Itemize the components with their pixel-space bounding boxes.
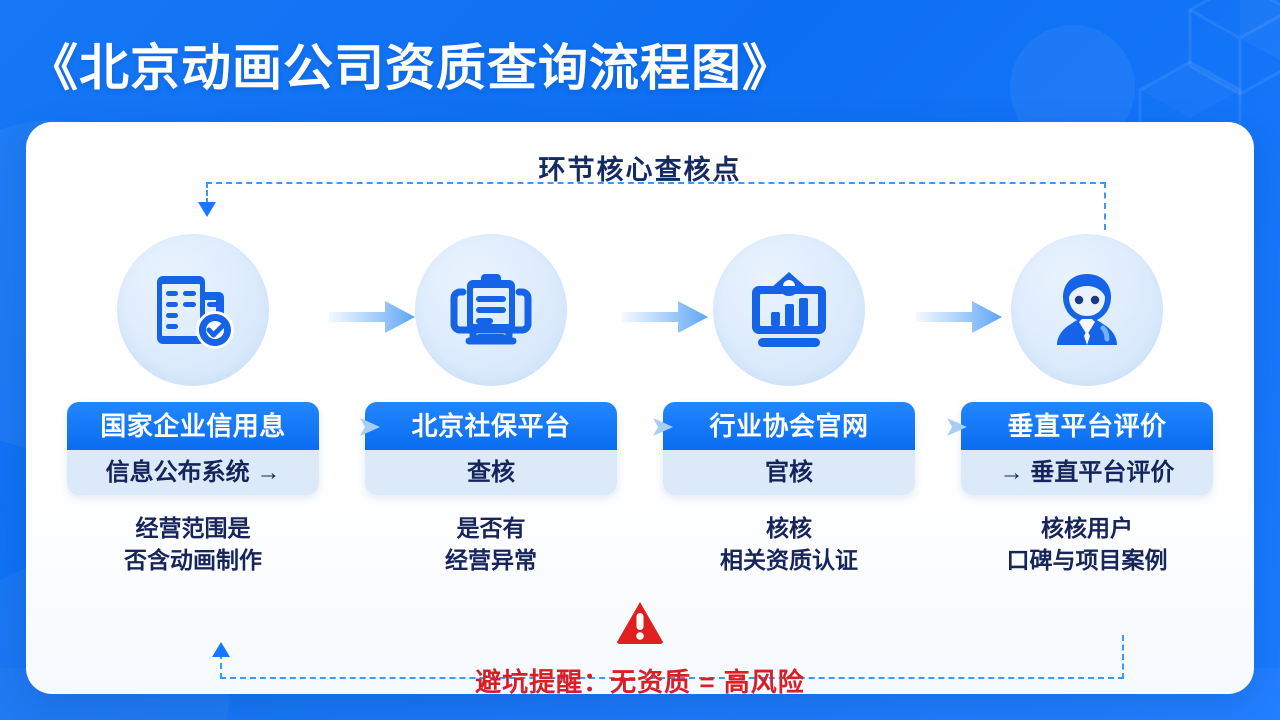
step-pill-main: 北京社保平台 — [365, 402, 617, 450]
infographic-canvas: 《北京动画公司资质查询流程图》 环节核心查核点 — [0, 0, 1280, 720]
step-icon-bubble — [415, 234, 567, 386]
step-item[interactable]: 北京社保平台 查核 是否有 经营异常 — [360, 234, 622, 576]
page-title: 《北京动画公司资质查询流程图》 — [28, 28, 793, 100]
step-description: 核核 相关资质认证 — [720, 512, 858, 576]
bar-chart-board-icon — [743, 264, 835, 356]
step-icon-bubble — [117, 234, 269, 386]
user-avatar-icon — [1041, 264, 1133, 356]
step-pill-main: 垂直平台评价 — [961, 402, 1213, 450]
dashed-feedback-loop-top — [176, 182, 1106, 232]
step-description: 经营范围是 否含动画制作 — [124, 512, 262, 576]
step-pill-sub: 信息公布系统 → — [67, 450, 319, 495]
step-pill-stack: 垂直平台评价 → 垂直平台评价 — [961, 402, 1213, 495]
step-pill-main: 行业协会官网 — [663, 402, 915, 450]
step-list: 国家企业信用息 信息公布系统 → 经营范围是 否含动画制作 — [62, 234, 1218, 576]
warning-triangle-icon — [616, 600, 664, 644]
step-icon-bubble — [713, 234, 865, 386]
warning-text: 避坑提醒：无资质 = 高风险 — [26, 662, 1254, 694]
flow-card: 环节核心查核点 — [26, 122, 1254, 694]
step-icon-bubble — [1011, 234, 1163, 386]
chevron-right-icon — [943, 414, 973, 440]
step-pill-stack: 北京社保平台 查核 — [365, 402, 617, 495]
card-heading: 环节核心查核点 — [26, 148, 1254, 187]
step-item[interactable]: 行业协会官网 官核 核核 相关资质认证 — [658, 234, 920, 576]
step-pill-main: 国家企业信用息 — [67, 402, 319, 450]
loop-bottom-arrowhead-icon — [212, 642, 230, 657]
step-pill-sub: 查核 — [365, 450, 617, 495]
clipboard-monitor-icon — [445, 264, 537, 356]
step-pill-stack: 国家企业信用息 信息公布系统 → — [67, 402, 319, 495]
chevron-right-icon — [649, 414, 679, 440]
arrow-right-icon — [622, 300, 708, 334]
step-item[interactable]: 垂直平台评价 → 垂直平台评价 核核用户 口碑与项目案例 — [956, 234, 1218, 576]
chevron-right-icon — [356, 414, 386, 440]
step-pill-sub: 官核 — [663, 450, 915, 495]
step-pill-sub: → 垂直平台评价 — [961, 450, 1213, 495]
document-check-icon — [147, 264, 239, 356]
step-description: 核核用户 口碑与项目案例 — [1007, 512, 1168, 576]
arrow-right-icon — [329, 300, 415, 334]
step-description: 是否有 经营异常 — [445, 512, 537, 576]
step-item[interactable]: 国家企业信用息 信息公布系统 → 经营范围是 否含动画制作 — [62, 234, 324, 576]
step-pill-stack: 行业协会官网 官核 — [663, 402, 915, 495]
loop-top-arrowhead-icon — [198, 202, 216, 217]
arrow-right-icon — [916, 300, 1002, 334]
